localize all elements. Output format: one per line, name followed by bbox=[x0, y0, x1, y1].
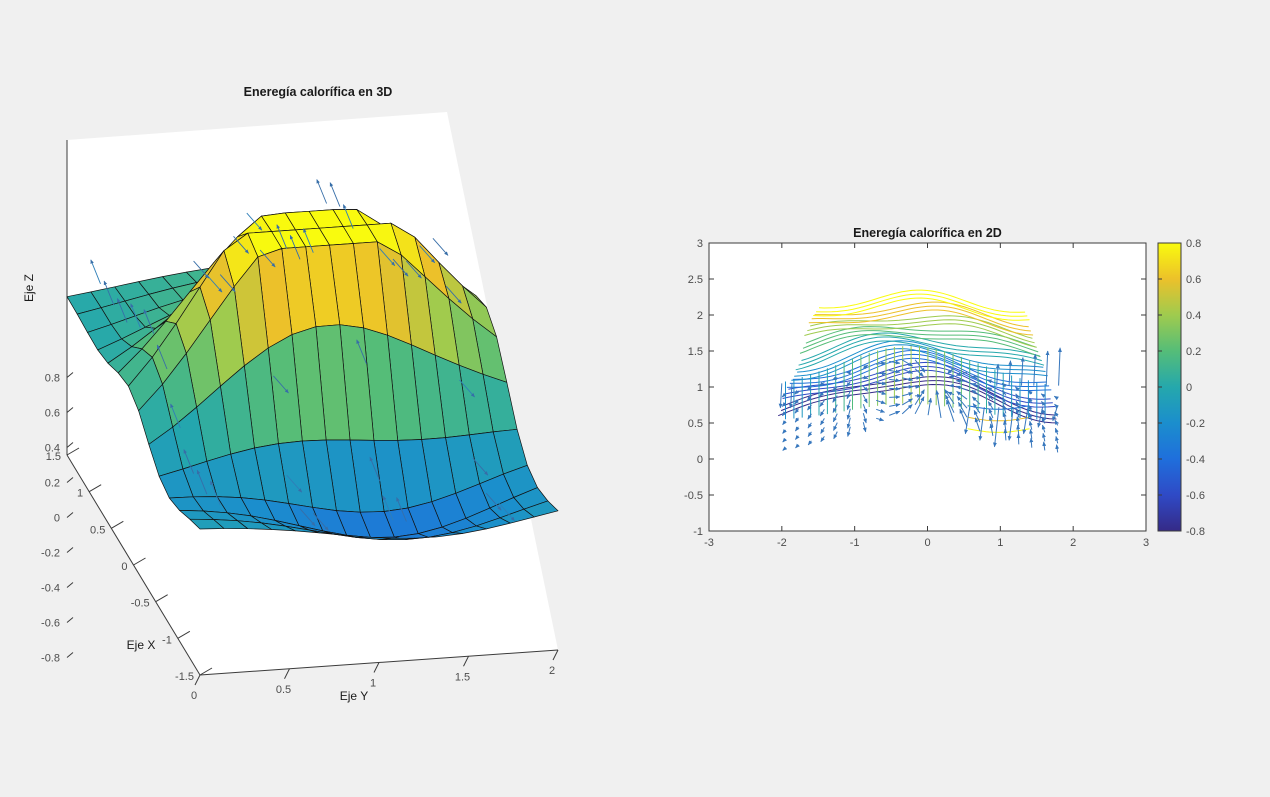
y-tick-label-2d: 2.5 bbox=[688, 274, 703, 286]
y-tick-label-2d: 3 bbox=[697, 238, 703, 250]
colorbar-tick-label: -0.6 bbox=[1186, 490, 1205, 502]
x-tick-label: -1 bbox=[162, 634, 172, 646]
x-tick-label-2d: 0 bbox=[924, 537, 930, 549]
y-tick-label-2d: -1 bbox=[693, 526, 703, 538]
colorbar-tick-label: 0.6 bbox=[1186, 274, 1201, 286]
x-tick-label-2d: 1 bbox=[997, 537, 1003, 549]
z-tick-label: -0.4 bbox=[41, 583, 60, 595]
y-tick-label-2d: 1 bbox=[697, 382, 703, 394]
z-tick-label: -0.6 bbox=[41, 618, 60, 630]
z-tick-label: 0.8 bbox=[45, 373, 60, 385]
x-tick-label-2d: -3 bbox=[704, 537, 714, 549]
y-tick-label-2d: 2 bbox=[697, 310, 703, 322]
z-tick-label: 0.6 bbox=[45, 408, 60, 420]
colorbar-tick-label: 0 bbox=[1186, 382, 1192, 394]
x-tick-label-2d: -1 bbox=[850, 537, 860, 549]
quiver-arrow bbox=[889, 397, 900, 398]
x-tick-label-2d: 2 bbox=[1070, 537, 1076, 549]
x-tick-label: 1.5 bbox=[46, 451, 61, 463]
plot2d-title: Eneregía calorífica en 2D bbox=[853, 226, 1002, 240]
quiver-arrow bbox=[889, 388, 900, 389]
z-tick-label: -0.8 bbox=[41, 653, 60, 665]
z-tick-label: 0 bbox=[54, 513, 60, 525]
z-axis-label: Eje Z bbox=[22, 274, 36, 302]
colorbar-tick-label: -0.4 bbox=[1186, 454, 1205, 466]
colorbar-tick-label: -0.2 bbox=[1186, 418, 1205, 430]
x-tick-label: 0.5 bbox=[90, 524, 105, 536]
y-tick-label-2d: 1.5 bbox=[688, 346, 703, 358]
y-tick-label: 2 bbox=[549, 665, 555, 677]
y-tick-label-2d: 0.5 bbox=[688, 418, 703, 430]
colorbar-tick-label: -0.8 bbox=[1186, 526, 1205, 538]
x-tick-label: 1 bbox=[77, 488, 83, 500]
colorbar-tick-label: 0.2 bbox=[1186, 346, 1201, 358]
y-tick-label-2d: -0.5 bbox=[684, 490, 703, 502]
x-tick-label: 0 bbox=[121, 561, 127, 573]
y-tick-label: 0.5 bbox=[276, 684, 291, 696]
z-tick-label: 0.2 bbox=[45, 478, 60, 490]
x-tick-label: -0.5 bbox=[131, 598, 150, 610]
z-tick-label: -0.2 bbox=[41, 548, 60, 560]
y-tick-label: 1.5 bbox=[455, 671, 470, 683]
y-axis-label: Eje Y bbox=[340, 689, 368, 703]
plot3d-title: Eneregía calorífica en 3D bbox=[244, 85, 393, 99]
x-axis-label: Eje X bbox=[127, 638, 156, 652]
x-tick-label: -1.5 bbox=[175, 671, 194, 683]
y-tick-label-2d: 0 bbox=[697, 454, 703, 466]
matlab-figure: Eneregía calorífica en 3D -0.8-0.6-0.4-0… bbox=[0, 0, 1270, 797]
y-tick-label: 0 bbox=[191, 690, 197, 702]
colorbar-tick-label: 0.8 bbox=[1186, 238, 1201, 250]
axes-2d[interactable]: Eneregía calorífica en 2D -3-2-10123 -1-… bbox=[684, 226, 1149, 549]
colorbar-tick-label: 0.4 bbox=[1186, 310, 1201, 322]
x-tick-label-2d: 3 bbox=[1143, 537, 1149, 549]
x-tick-label-2d: -2 bbox=[777, 537, 787, 549]
y-tick-label: 1 bbox=[370, 678, 376, 690]
